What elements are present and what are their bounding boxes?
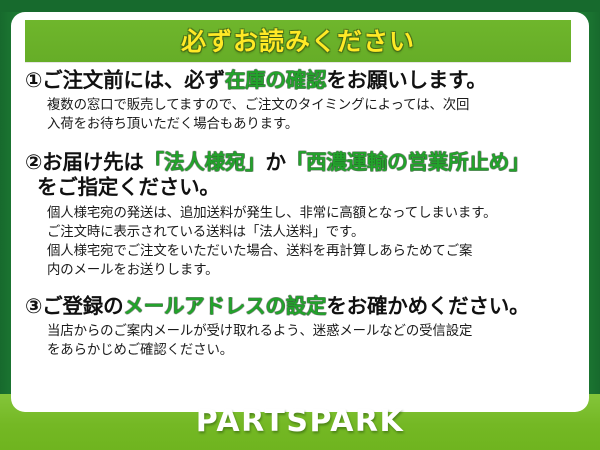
frame-top-band xyxy=(0,0,600,12)
item-2-subtext-line-0: 個人様宅宛の発送は、追加送料が発生し、非常に高額となってしまいます。 xyxy=(47,206,496,221)
item-2-subtext-line-1: ご注文時に表示されている送料は「法人送料」です。 xyxy=(47,225,364,240)
item-3-subtext-line-0: 当店からのご案内メールが受け取れるよう、迷惑メールなどの受信設定 xyxy=(47,324,472,339)
notice-item-2: ②お届け先は「法人様宛」か「西濃運輸の営業所止め」 をご指定ください。 個人様宅… xyxy=(11,150,589,280)
item-3-heading: ③ご登録のメールアドレスの設定をお確かめください。 xyxy=(11,294,589,319)
item-2-heading-part-2: か xyxy=(265,150,285,174)
item-1-subtext: 複数の窓口で販売してますので、ご注文のタイミングによっては、次回 入荷をお待ち頂… xyxy=(11,96,589,134)
content-panel: 必ずお読みください ①ご注文前には、必ず在庫の確認をお願いします。 複数の窓口で… xyxy=(11,12,589,412)
item-1-subtext-line-0: 複数の窓口で販売してますので、ご注文のタイミングによっては、次回 xyxy=(47,98,469,113)
notice-item-1: ①ご注文前には、必ず在庫の確認をお願いします。 複数の窓口で販売してますので、ご… xyxy=(11,68,589,134)
footer-brand: PARTSPARK xyxy=(0,394,600,450)
item-1-subtext-line-1: 入荷をお待ち頂いただく場合もあります。 xyxy=(47,117,298,132)
item-2-heading-part-0: お届け先は xyxy=(42,150,144,174)
item-2-heading-highlight-seino: 「西濃運輸の営業所止め」 xyxy=(286,150,530,174)
item-3-heading-highlight: メールアドレスの設定 xyxy=(123,294,326,318)
notice-item-3: ③ご登録のメールアドレスの設定をお確かめください。 当店からのご案内メールが受け… xyxy=(11,294,589,360)
item-3-heading-part-0: ご登録の xyxy=(42,294,123,318)
item-1-heading-part-2: をお願いします。 xyxy=(326,68,486,92)
item-1-heading-part-0: ご注文前には、必ず xyxy=(42,68,225,92)
header-banner: 必ずお読みください xyxy=(25,20,571,62)
notice-items-list: ①ご注文前には、必ず在庫の確認をお願いします。 複数の窓口で販売してますので、ご… xyxy=(11,68,589,360)
item-1-marker: ① xyxy=(25,68,42,92)
item-1-heading: ①ご注文前には、必ず在庫の確認をお願いします。 xyxy=(11,68,589,93)
brand-name-partspark: PARTSPARK xyxy=(196,407,405,437)
item-3-subtext-line-1: をあらかじめご確認ください。 xyxy=(47,343,233,358)
item-2-heading-highlight-corporate: 「法人様宛」 xyxy=(144,150,266,174)
item-1-heading-highlight: 在庫の確認 xyxy=(225,68,327,92)
item-3-heading-part-2: をお確かめください。 xyxy=(326,294,529,318)
item-2-subtext-line-2: 個人様宅宛でご注文をいただいた場合、送料を再計算しあらためてご案 xyxy=(47,244,472,259)
item-2-marker: ② xyxy=(25,150,42,174)
item-2-subtext-line-3: 内のメールをお送りします。 xyxy=(47,263,218,278)
item-3-subtext: 当店からのご案内メールが受け取れるよう、迷惑メールなどの受信設定 をあらかじめご… xyxy=(11,322,589,360)
item-3-marker: ③ xyxy=(25,294,42,318)
item-2-heading: ②お届け先は「法人様宛」か「西濃運輸の営業所止め」 xyxy=(11,150,589,175)
header-title: 必ずお読みください xyxy=(181,29,415,54)
item-2-heading-line2: をご指定ください。 xyxy=(11,175,589,200)
item-2-subtext: 個人様宅宛の発送は、追加送料が発生し、非常に高額となってしまいます。 ご注文時に… xyxy=(11,204,589,280)
notice-frame: 必ずお読みください ①ご注文前には、必ず在庫の確認をお願いします。 複数の窓口で… xyxy=(0,0,600,450)
